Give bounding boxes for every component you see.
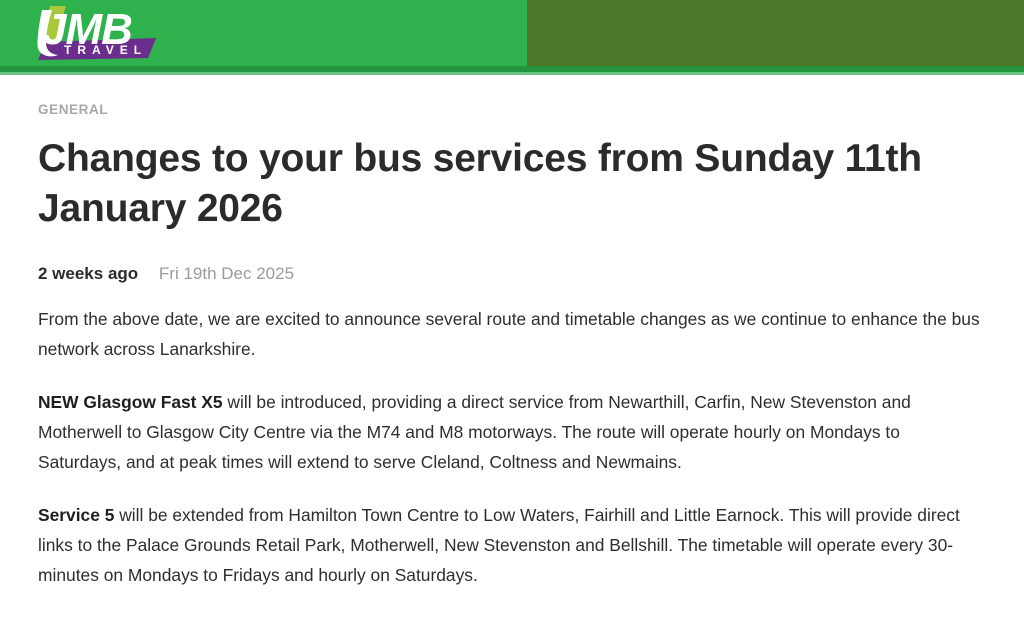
header-bottom-line xyxy=(0,72,1024,75)
jmb-travel-logo-icon: JMB TRAVEL xyxy=(28,2,168,66)
paragraph-text: From the above date, we are excited to a… xyxy=(38,309,980,359)
article-relative-time: 2 weeks ago xyxy=(38,264,138,283)
article-category-label: GENERAL xyxy=(38,102,986,117)
svg-text:TRAVEL: TRAVEL xyxy=(64,43,147,57)
paragraph-lead: NEW Glasgow Fast X5 xyxy=(38,392,223,412)
paragraph-text: will be extended from Hamilton Town Cent… xyxy=(38,505,960,585)
article-meta: 2 weeks ago Fri 19th Dec 2025 xyxy=(38,263,986,285)
article-paragraph: From the above date, we are excited to a… xyxy=(38,304,986,364)
site-header: JMB TRAVEL xyxy=(0,0,1024,75)
article-paragraph: NEW Glasgow Fast X5 will be introduced, … xyxy=(38,387,986,477)
article-paragraph: Service 5 will be extended from Hamilton… xyxy=(38,500,986,590)
paragraph-lead: Service 5 xyxy=(38,505,114,525)
page-title: Changes to your bus services from Sunday… xyxy=(38,134,928,234)
jmb-travel-logo[interactable]: JMB TRAVEL xyxy=(28,2,168,66)
article-body: From the above date, we are excited to a… xyxy=(38,304,986,590)
header-accent-panel xyxy=(527,0,1024,74)
article: GENERAL Changes to your bus services fro… xyxy=(0,102,1024,590)
article-publish-date: Fri 19th Dec 2025 xyxy=(159,264,294,283)
